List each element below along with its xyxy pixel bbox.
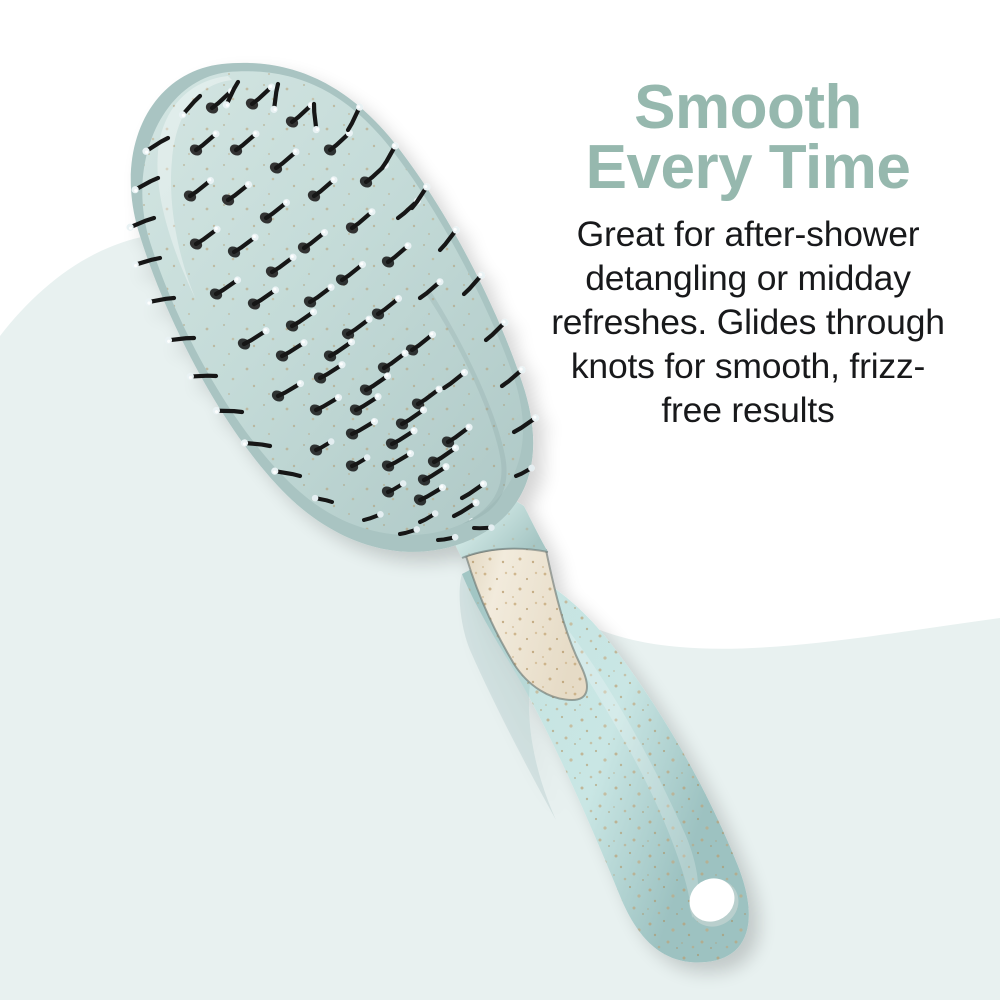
bristles	[182, 83, 487, 536]
page-title: Smooth Every Time	[548, 78, 948, 198]
brush-neck	[438, 491, 548, 558]
hang-hole	[681, 870, 748, 936]
handle-neck-panel	[466, 548, 587, 700]
product-hero-banner: Smooth Every Time Great for after-shower…	[0, 0, 1000, 1000]
product-description: Great for after-shower detangling or mid…	[548, 212, 948, 432]
brush-handle	[460, 556, 749, 962]
brush-head-pad	[131, 63, 533, 552]
copy-panel: Smooth Every Time Great for after-shower…	[548, 78, 948, 432]
bristles-edge	[126, 82, 539, 548]
